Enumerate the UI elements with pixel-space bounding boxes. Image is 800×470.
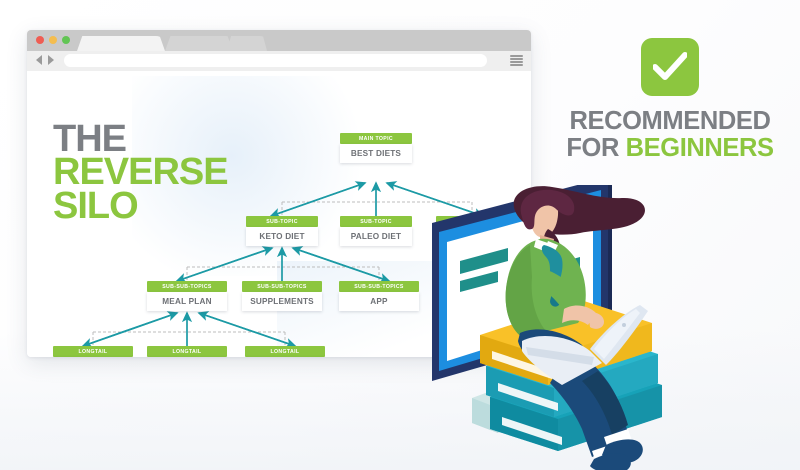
node-tag: SUB-TOPIC — [340, 216, 412, 227]
browser-tab-2[interactable] — [165, 36, 233, 51]
node-for-men[interactable]: LONGTAIL FOR MEN — [147, 346, 227, 357]
node-label: APP — [339, 292, 419, 311]
illustration-group — [412, 185, 800, 470]
maximize-window-button[interactable] — [62, 36, 70, 44]
back-arrow-icon[interactable] — [36, 55, 42, 65]
navigation-buttons — [36, 55, 54, 65]
node-best-diets[interactable]: MAIN TOPIC BEST DIETS — [340, 133, 412, 163]
recommended-line-1: RECOMMENDED — [548, 108, 792, 135]
screenshot-stage: THE REVERSE SILO — [0, 0, 800, 470]
browser-tab-3[interactable] — [227, 36, 267, 51]
forward-arrow-icon[interactable] — [48, 55, 54, 65]
recommended-banner: RECOMMENDED FOR BEGINNERS — [548, 38, 792, 162]
node-tag: SUB-TOPIC — [246, 216, 318, 227]
url-input[interactable] — [64, 54, 487, 67]
beginners-text: BEGINNERS — [626, 134, 774, 162]
node-paleo-diet[interactable]: SUB-TOPIC PALEO DIET — [340, 216, 412, 246]
tab-shape — [77, 36, 165, 51]
node-label: MEAL PLAN — [147, 292, 227, 311]
node-supplements[interactable]: SUB-SUB-TOPICS SUPPLEMENTS — [242, 281, 322, 311]
node-label: KETO DIET — [246, 227, 318, 246]
illustration-svg — [412, 185, 800, 470]
close-window-button[interactable] — [36, 36, 44, 44]
for-text: FOR — [566, 134, 619, 162]
node-label: PALEO DIET — [340, 227, 412, 246]
check-icon — [641, 38, 699, 96]
recommended-text: RECOMMENDED — [569, 107, 770, 135]
node-breakfast[interactable]: LONGTAIL BREAKFAST — [53, 346, 133, 357]
tab-shape — [227, 36, 267, 51]
recommended-line-2: FOR BEGINNERS — [548, 135, 792, 162]
hamburger-menu-icon[interactable] — [510, 54, 523, 67]
node-meal-plan[interactable]: SUB-SUB-TOPICS MEAL PLAN — [147, 281, 227, 311]
minimize-window-button[interactable] — [49, 36, 57, 44]
node-tag: MAIN TOPIC — [340, 133, 412, 144]
node-tag: SUB-SUB-TOPICS — [242, 281, 322, 292]
node-tag: SUB-SUB-TOPICS — [339, 281, 419, 292]
tab-shape — [165, 36, 233, 51]
browser-tab-active[interactable] — [77, 36, 165, 51]
node-tag: LONGTAIL — [147, 346, 227, 357]
browser-titlebar — [27, 30, 531, 51]
node-tag: SUB-SUB-TOPICS — [147, 281, 227, 292]
node-tag: LONGTAIL — [53, 346, 133, 357]
node-for-women[interactable]: LONGTAIL FOR WOMEN — [245, 346, 325, 357]
window-controls — [36, 36, 70, 44]
node-tag: LONGTAIL — [245, 346, 325, 357]
node-keto-diet[interactable]: SUB-TOPIC KETO DIET — [246, 216, 318, 246]
node-label: SUPPLEMENTS — [242, 292, 322, 311]
node-app[interactable]: SUB-SUB-TOPICS APP — [339, 281, 419, 311]
node-label: BEST DIETS — [340, 144, 412, 163]
